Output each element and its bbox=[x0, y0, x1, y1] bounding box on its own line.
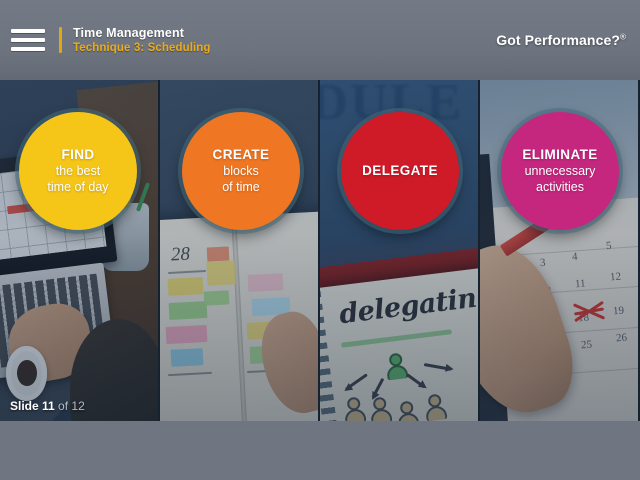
delegation-member-icon bbox=[372, 396, 392, 421]
slide-viewer: Time Management Technique 3: Scheduling … bbox=[0, 0, 640, 480]
badge-find-heading: FIND bbox=[61, 147, 94, 163]
sticky-note bbox=[207, 260, 237, 285]
badge-eliminate-line2: activities bbox=[536, 180, 584, 195]
badge-eliminate-line1: unnecessary bbox=[525, 164, 596, 179]
calendar-day: 12 bbox=[609, 271, 621, 284]
registered-mark-icon: ® bbox=[620, 32, 626, 41]
calendar-day: 26 bbox=[615, 332, 627, 345]
member-body bbox=[370, 408, 393, 421]
sticky-note bbox=[171, 349, 203, 368]
calendar-day: 5 bbox=[606, 240, 612, 252]
badge-find-line1: the best bbox=[56, 164, 100, 179]
badge-find[interactable]: FIND the best time of day bbox=[19, 112, 137, 230]
page-subtitle: Technique 3: Scheduling bbox=[73, 42, 211, 55]
badge-eliminate-heading: ELIMINATE bbox=[522, 147, 597, 163]
sticky-note bbox=[166, 324, 208, 343]
member-body bbox=[344, 408, 367, 421]
sticky-note bbox=[248, 273, 284, 292]
top-bar: Time Management Technique 3: Scheduling … bbox=[0, 0, 640, 80]
sticky-note bbox=[207, 247, 230, 262]
badge-delegate-heading: DELEGATE bbox=[362, 163, 438, 179]
crossout-mark-icon bbox=[571, 297, 607, 325]
delegation-member-icon bbox=[347, 396, 367, 421]
coffee-mug bbox=[6, 346, 47, 401]
delegation-leader-icon bbox=[388, 352, 408, 380]
badge-eliminate[interactable]: ELIMINATE unnecessary activities bbox=[501, 112, 619, 230]
badge-find-line2: time of day bbox=[47, 180, 108, 195]
hamburger-bar-3 bbox=[11, 47, 45, 51]
calendar-day: 4 bbox=[571, 250, 577, 262]
hamburger-bar-1 bbox=[11, 29, 45, 33]
badge-create-line1: blocks bbox=[223, 164, 258, 179]
brand-text: Got Performance? bbox=[496, 32, 620, 48]
planner-day-number: 28 bbox=[170, 243, 190, 266]
badge-create[interactable]: CREATE blocks of time bbox=[182, 112, 300, 230]
slide-total: of 12 bbox=[58, 399, 85, 413]
calendar-day: 3 bbox=[540, 257, 546, 269]
page-title: Time Management bbox=[73, 26, 211, 40]
slide-counter: Slide 11 of 12 bbox=[10, 399, 85, 413]
header-accent-divider bbox=[59, 27, 62, 53]
sticky-note bbox=[169, 301, 208, 320]
brand-logo: Got Performance?® bbox=[496, 32, 626, 48]
member-body bbox=[397, 412, 420, 421]
badge-delegate[interactable]: DELEGATE bbox=[341, 112, 459, 230]
badge-create-heading: CREATE bbox=[213, 147, 270, 163]
header-title-block: Time Management Technique 3: Scheduling bbox=[73, 26, 211, 55]
slide-number: Slide 11 bbox=[10, 399, 55, 413]
hamburger-menu-icon[interactable] bbox=[11, 27, 45, 53]
badge-create-line2: of time bbox=[222, 180, 260, 195]
delegation-member-icon bbox=[427, 393, 447, 421]
delegation-member-icon bbox=[399, 400, 419, 421]
sticky-note bbox=[167, 277, 203, 296]
calendar-day: 11 bbox=[574, 277, 585, 290]
sticky-note bbox=[204, 291, 230, 306]
calendar-day: 25 bbox=[581, 339, 593, 352]
member-body bbox=[425, 405, 448, 421]
calendar-day: 19 bbox=[612, 305, 624, 318]
hamburger-bar-2 bbox=[11, 38, 45, 42]
top-bar-left: Time Management Technique 3: Scheduling bbox=[0, 26, 211, 55]
